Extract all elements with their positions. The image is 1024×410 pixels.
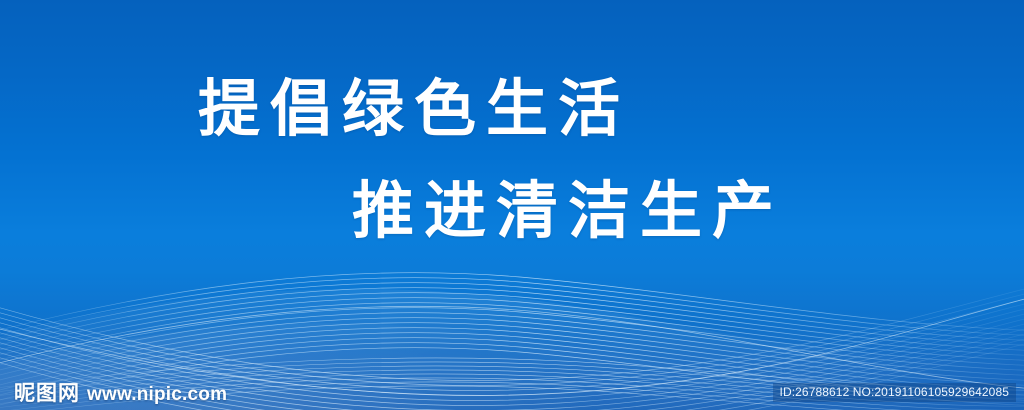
asset-id-badge: ID:26788612 NO:20191106105929642085 bbox=[773, 383, 1016, 402]
brand-logo-text: 昵图网 bbox=[14, 383, 80, 404]
headline-line-2: 推进清洁生产 bbox=[352, 181, 1024, 243]
brand-url-text: www.nipic.com bbox=[87, 385, 227, 404]
brand-watermark: 昵图网 www.nipic.com bbox=[14, 383, 227, 404]
poster-canvas: 提倡绿色生活 推进清洁生产 昵图网 www.nipic.com ID:26788… bbox=[0, 0, 1024, 410]
headline-line-1: 提倡绿色生活 bbox=[198, 79, 1024, 141]
headline-block: 提倡绿色生活 推进清洁生产 bbox=[0, 0, 1024, 300]
